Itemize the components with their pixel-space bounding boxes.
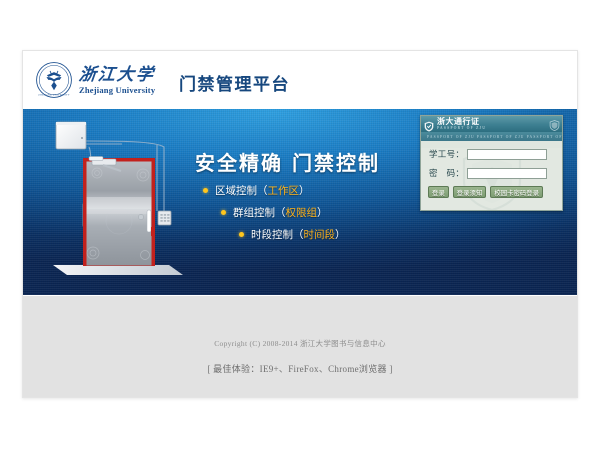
login-panel-header: 浙大通行证 PASSPORT OF ZJU xyxy=(421,116,562,132)
campus-card-password-login-button[interactable]: 校园卡密码登录 xyxy=(490,186,543,198)
login-field-row: 学工号： xyxy=(429,148,562,160)
university-name-cn: 浙江大学 xyxy=(78,66,156,83)
list-item-tail: ） xyxy=(317,205,328,220)
student-staff-id-label: 学工号： xyxy=(429,148,467,160)
login-button-group: 登录 登录须知 校园卡密码登录 xyxy=(428,186,562,198)
list-item-accent: 权限组 xyxy=(286,205,318,220)
hero-banner: 安全精确 门禁控制 区域控制（ 工作区 ） 群组控制（ 权限组 ） 时段 xyxy=(23,109,577,295)
footer-content: Copyright (C) 2008-2014 浙江大学图书与信息中心 [ 最佳… xyxy=(23,338,577,375)
login-strip-text: PASSPORT OF ZJU PASSPORT OF ZJU PASSPORT… xyxy=(421,135,562,139)
shield-icon xyxy=(424,119,434,130)
list-item-tail: ） xyxy=(335,227,346,242)
login-title-cn: 浙大通行证 xyxy=(437,118,486,126)
list-item-label: 群组控制（ xyxy=(233,205,286,220)
password-field[interactable] xyxy=(467,168,547,179)
list-item: 时段控制（ 时间段 ） xyxy=(239,227,413,242)
page-title: 门禁管理平台 xyxy=(179,70,290,95)
university-name-en: Zhejiang University xyxy=(79,86,155,95)
bullet-dot-icon xyxy=(239,232,244,237)
site-frame: ZHEJIANG UNIVERSITY 浙江大学 Zhejiang Univer… xyxy=(22,50,578,398)
copyright-text: Copyright (C) 2008-2014 浙江大学图书与信息中心 xyxy=(23,338,577,349)
list-item-accent: 时间段 xyxy=(304,227,336,242)
list-item-label: 区域控制（ xyxy=(215,183,268,198)
bullet-dot-icon xyxy=(203,188,208,193)
list-item: 区域控制（ 工作区 ） xyxy=(203,183,413,198)
page-root: ZHEJIANG UNIVERSITY 浙江大学 Zhejiang Univer… xyxy=(0,0,600,450)
login-field-row: 密 码： xyxy=(429,167,562,179)
list-item-tail: ） xyxy=(299,183,310,198)
site-footer: Copyright (C) 2008-2014 浙江大学图书与信息中心 [ 最佳… xyxy=(23,295,577,397)
list-item-label: 时段控制（ xyxy=(251,227,304,242)
login-notice-button[interactable]: 登录须知 xyxy=(453,186,487,198)
list-item: 群组控制（ 权限组 ） xyxy=(221,205,413,220)
university-logo[interactable]: ZHEJIANG UNIVERSITY 浙江大学 Zhejiang Univer… xyxy=(35,61,155,99)
student-staff-id-field[interactable] xyxy=(467,149,547,160)
banner-feature-list: 区域控制（ 工作区 ） 群组控制（ 权限组 ） 时段控制（ 时间段 ） xyxy=(203,183,413,249)
login-panel-strip: PASSPORT OF ZJU PASSPORT OF ZJU PASSPORT… xyxy=(421,132,562,141)
bullet-dot-icon xyxy=(221,210,226,215)
zhejiang-university-seal-icon: ZHEJIANG UNIVERSITY xyxy=(35,61,73,99)
access-control-door-illustration xyxy=(37,117,197,289)
svg-text:ZHEJIANG UNIVERSITY: ZHEJIANG UNIVERSITY xyxy=(38,93,70,96)
password-label: 密 码： xyxy=(429,167,467,179)
login-panel-body: 学工号： 密 码： 登录 登录须知 校园卡密码登录 xyxy=(421,148,562,211)
login-panel: 浙大通行证 PASSPORT OF ZJU PASSPORT OF ZJU PA… xyxy=(420,115,563,211)
login-button[interactable]: 登录 xyxy=(428,186,449,198)
browser-support-text: [ 最佳体验：IE9+、FireFox、Chrome浏览器 ] xyxy=(23,362,577,375)
list-item-accent: 工作区 xyxy=(268,183,300,198)
shield-icon xyxy=(549,118,560,129)
login-title-en: PASSPORT OF ZJU xyxy=(437,127,486,131)
banner-headline: 安全精确 门禁控制 xyxy=(195,147,380,176)
site-header: ZHEJIANG UNIVERSITY 浙江大学 Zhejiang Univer… xyxy=(23,51,577,109)
